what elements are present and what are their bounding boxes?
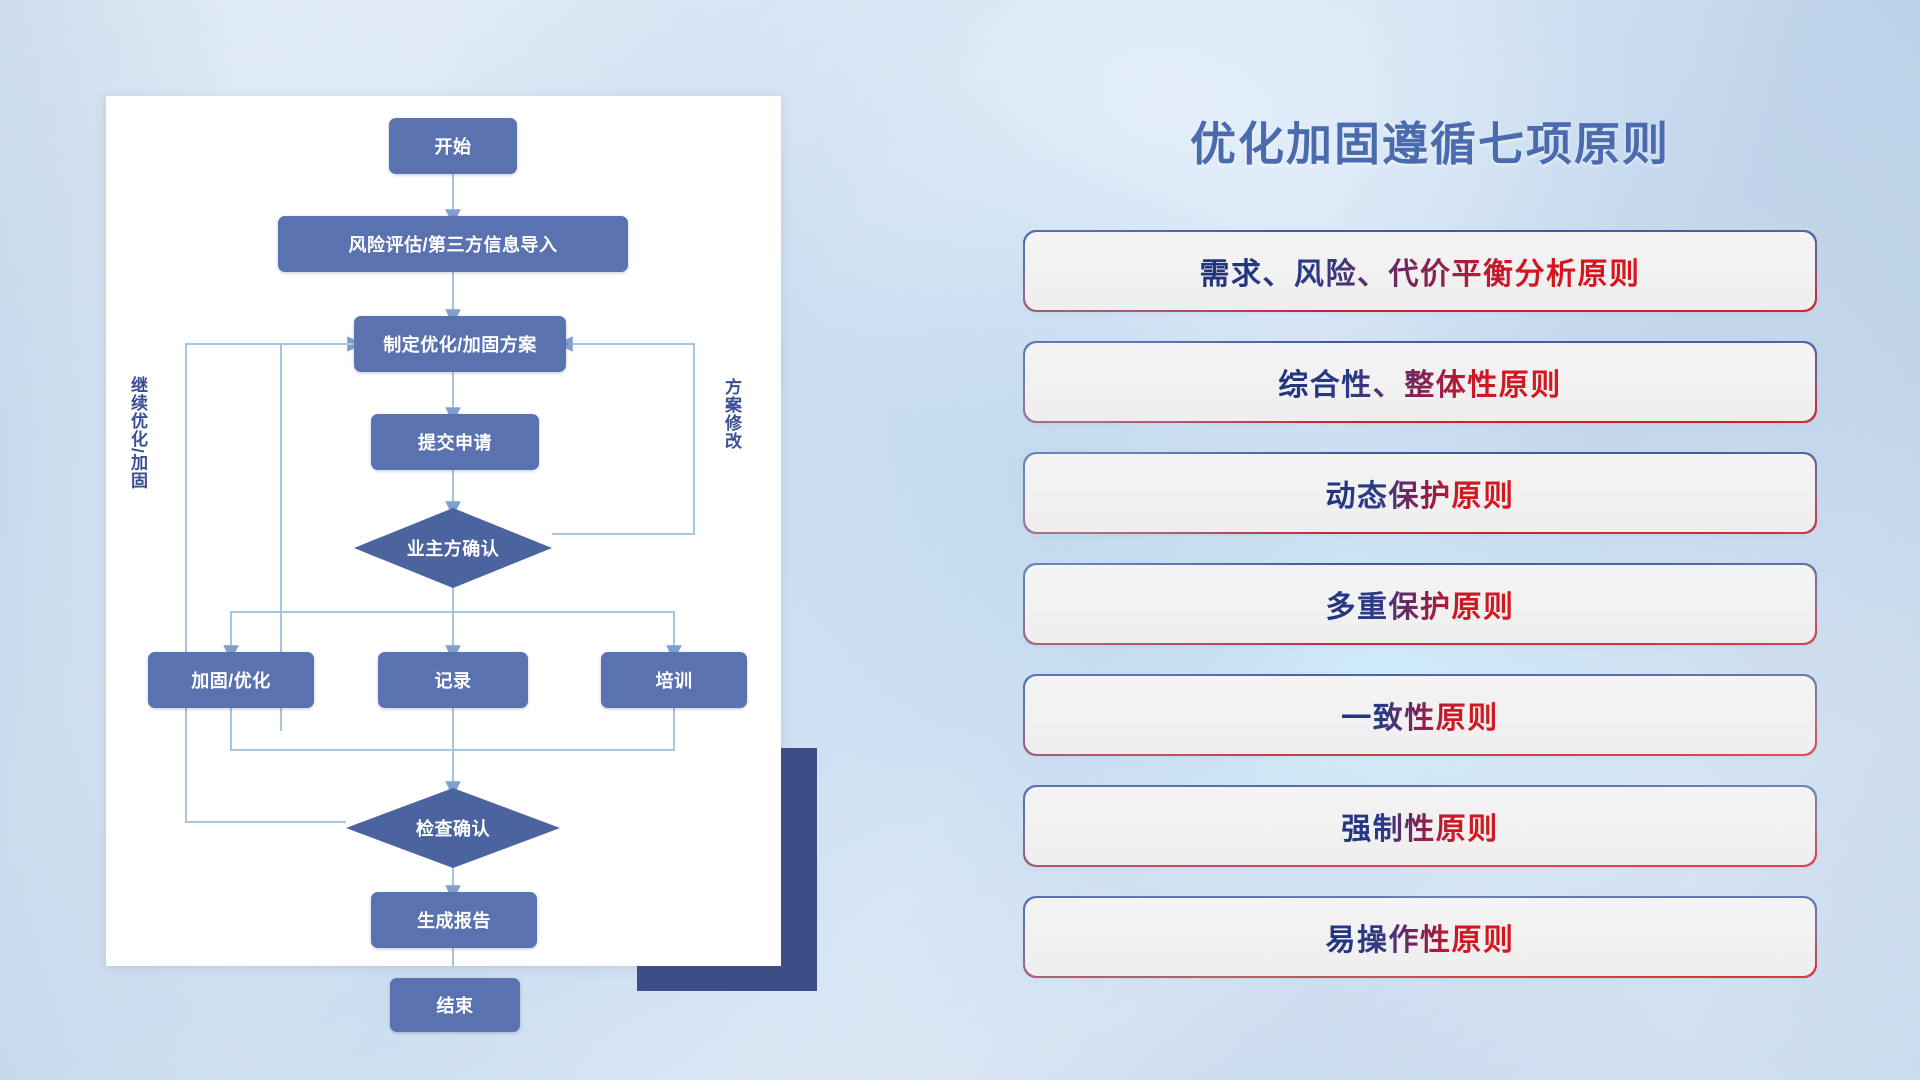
principle-card-1-label: 需求、风险、代价平衡分析原则 <box>1200 249 1641 293</box>
principle-card-7[interactable]: 易操作性原则 <box>1025 898 1815 976</box>
flow-node-reinforce[interactable]: 加固/优化 <box>148 652 314 708</box>
flow-node-plan[interactable]: 制定优化/加固方案 <box>354 316 566 372</box>
principle-card-5-label: 一致性原则 <box>1341 693 1499 737</box>
flow-node-generate-report[interactable]: 生成报告 <box>371 892 537 948</box>
flow-node-record[interactable]: 记录 <box>378 652 528 708</box>
flow-node-inspection-confirm[interactable]: 检查确认 <box>346 788 560 868</box>
page-title: 优化加固遵循七项原则 <box>1020 108 1840 174</box>
principle-card-3-label: 动态保护原则 <box>1326 471 1515 515</box>
principle-card-7-label: 易操作性原则 <box>1326 915 1515 959</box>
principle-card-4[interactable]: 多重保护原则 <box>1025 565 1815 643</box>
principle-card-6-label: 强制性原则 <box>1341 804 1499 848</box>
principle-card-3[interactable]: 动态保护原则 <box>1025 454 1815 532</box>
flow-edge-label-left: 继续优化/加固 <box>128 376 146 546</box>
principle-card-2[interactable]: 综合性、整体性原则 <box>1025 343 1815 421</box>
diamond-shape-inspection-confirm <box>346 788 560 868</box>
flow-node-end[interactable]: 结束 <box>390 978 520 1032</box>
principles-list: 需求、风险、代价平衡分析原则 综合性、整体性原则 动态保护原则 多重保护原则 一… <box>1025 232 1815 1009</box>
principle-card-4-label: 多重保护原则 <box>1326 582 1515 626</box>
flow-node-submit-application[interactable]: 提交申请 <box>371 414 539 470</box>
principle-card-1[interactable]: 需求、风险、代价平衡分析原则 <box>1025 232 1815 310</box>
principle-card-5[interactable]: 一致性原则 <box>1025 676 1815 754</box>
flow-node-risk-assessment[interactable]: 风险评估/第三方信息导入 <box>278 216 628 272</box>
flow-node-training[interactable]: 培训 <box>601 652 747 708</box>
flow-edge-label-right: 方案修改 <box>722 378 740 498</box>
principle-card-2-label: 综合性、整体性原则 <box>1278 360 1562 404</box>
flow-node-owner-confirm[interactable]: 业主方确认 <box>354 508 552 588</box>
flow-node-start[interactable]: 开始 <box>389 118 517 174</box>
principle-card-6[interactable]: 强制性原则 <box>1025 787 1815 865</box>
flowchart-panel: 继续优化/加固 方案修改 开始 风险评估/第三方信息导入 制定优化/加固方案 提… <box>106 96 781 966</box>
diamond-shape-owner-confirm <box>354 508 552 588</box>
